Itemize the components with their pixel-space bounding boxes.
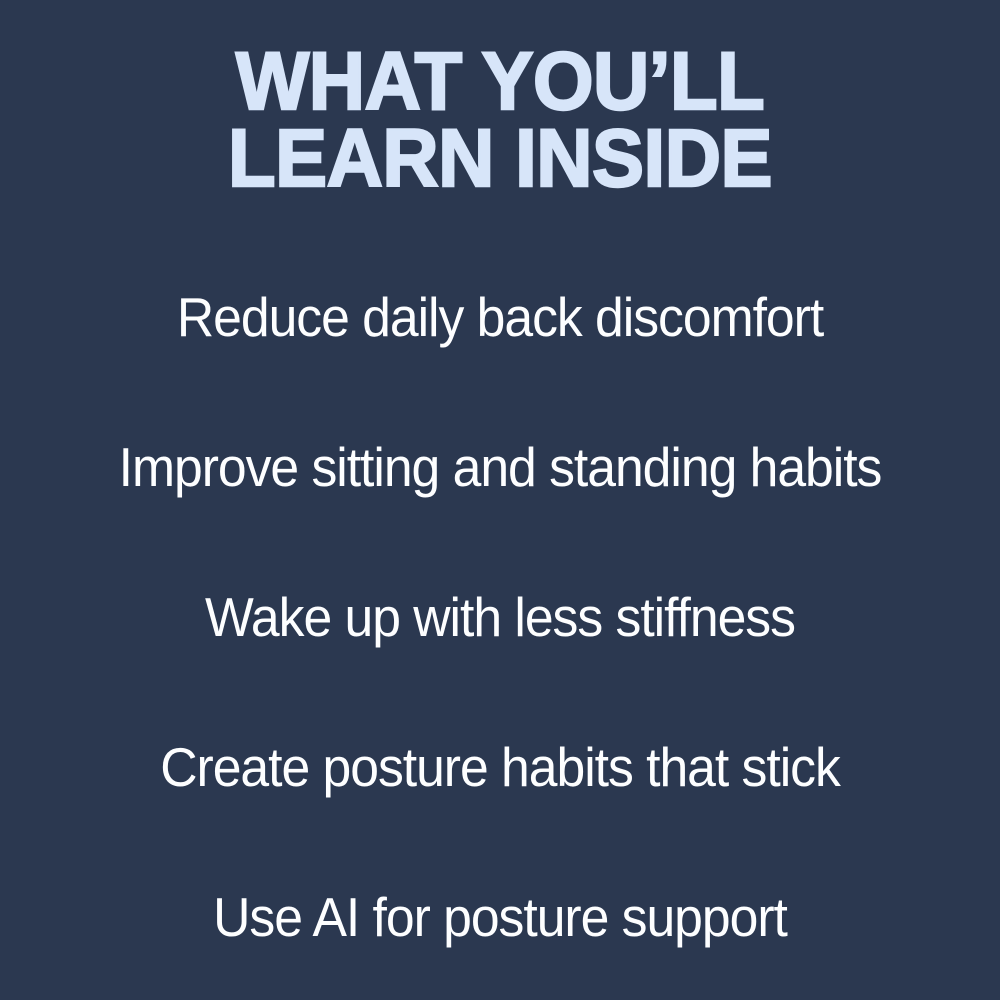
benefit-item-1: Reduce daily back discomfort: [30, 243, 970, 393]
benefit-item-5: Use AI for posture support: [30, 843, 970, 993]
benefit-item-3: Wake up with less stiffness: [30, 543, 970, 693]
promo-slide: WHAT YOU’LL LEARN INSIDE Reduce daily ba…: [0, 0, 1000, 1000]
page-title-line-2: LEARN INSIDE: [25, 119, 975, 196]
page-title-line-1: WHAT YOU’LL: [25, 0, 975, 119]
benefits-list: Reduce daily back discomfort Improve sit…: [0, 243, 1000, 993]
benefit-item-2: Improve sitting and standing habits: [30, 393, 970, 543]
page-title: WHAT YOU’LL LEARN INSIDE: [25, 0, 975, 197]
benefit-item-4: Create posture habits that stick: [30, 693, 970, 843]
